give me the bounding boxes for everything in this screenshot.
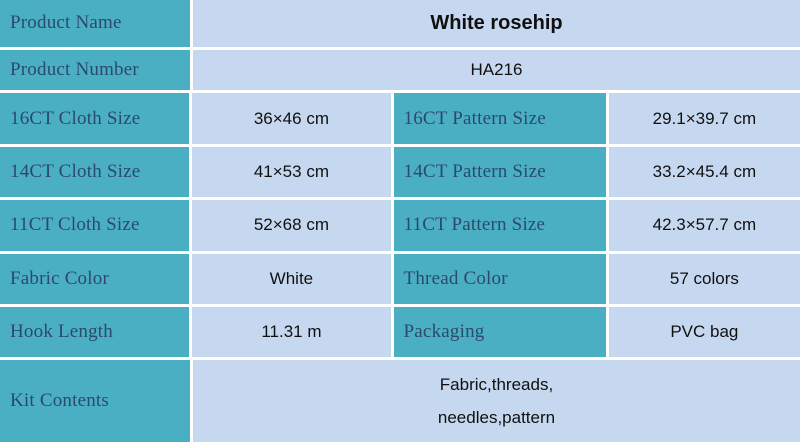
row-label-thread-color: Thread Color [394, 254, 606, 304]
row-label-14ct-pattern-size: 14CT Pattern Size [394, 147, 606, 197]
row-label-product-name: Product Name [0, 0, 190, 47]
row-label-14ct-cloth-size: 14CT Cloth Size [0, 147, 189, 197]
row-value-16ct-pattern-size: 29.1×39.7 cm [609, 93, 800, 143]
row-value-kit-contents: Fabric,threads, needles,pattern [193, 360, 800, 441]
row-label-16ct-cloth-size: 16CT Cloth Size [0, 93, 189, 143]
kit-contents-line-1: Fabric,threads, [193, 368, 800, 401]
row-value-product-name: White rosehip [193, 0, 800, 47]
row-label-kit-contents: Kit Contents [0, 360, 190, 441]
row-value-thread-color: 57 colors [609, 254, 800, 304]
row-value-14ct-pattern-size: 33.2×45.4 cm [609, 147, 800, 197]
table-row: Product Number HA216 [0, 50, 800, 91]
row-value-16ct-cloth-size: 36×46 cm [192, 93, 390, 143]
row-value-14ct-cloth-size: 41×53 cm [192, 147, 390, 197]
row-value-11ct-cloth-size: 52×68 cm [192, 200, 390, 250]
table-row: 16CT Cloth Size 36×46 cm 16CT Pattern Si… [0, 93, 800, 143]
row-label-hook-length: Hook Length [0, 307, 189, 357]
row-value-product-number: HA216 [193, 50, 800, 91]
product-spec-table: Product Name White rosehip Product Numbe… [0, 0, 800, 442]
table-row: 11CT Cloth Size 52×68 cm 11CT Pattern Si… [0, 200, 800, 250]
row-label-11ct-cloth-size: 11CT Cloth Size [0, 200, 189, 250]
table-row: Product Name White rosehip [0, 0, 800, 47]
table-row: Fabric Color White Thread Color 57 color… [0, 254, 800, 304]
row-label-fabric-color: Fabric Color [0, 254, 189, 304]
row-label-product-number: Product Number [0, 50, 190, 91]
row-value-packaging: PVC bag [609, 307, 800, 357]
kit-contents-line-2: needles,pattern [193, 401, 800, 434]
row-label-packaging: Packaging [394, 307, 606, 357]
row-label-11ct-pattern-size: 11CT Pattern Size [394, 200, 606, 250]
table-row: Kit Contents Fabric,threads, needles,pat… [0, 360, 800, 441]
row-label-16ct-pattern-size: 16CT Pattern Size [394, 93, 606, 143]
row-value-fabric-color: White [192, 254, 390, 304]
row-value-11ct-pattern-size: 42.3×57.7 cm [609, 200, 800, 250]
table-row: 14CT Cloth Size 41×53 cm 14CT Pattern Si… [0, 147, 800, 197]
row-value-hook-length: 11.31 m [192, 307, 390, 357]
table-row: Hook Length 11.31 m Packaging PVC bag [0, 307, 800, 357]
